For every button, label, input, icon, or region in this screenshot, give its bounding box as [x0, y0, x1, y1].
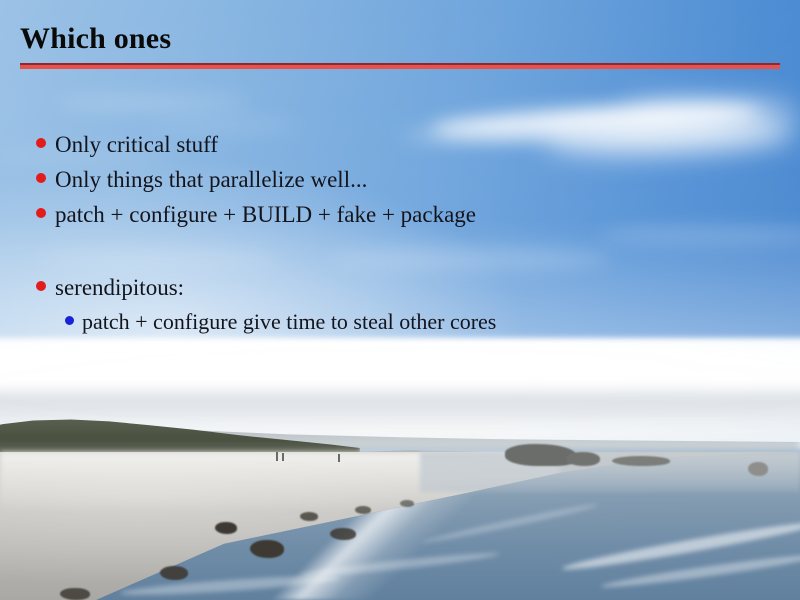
cloud-wisp-icon — [330, 248, 610, 270]
rock — [160, 566, 188, 580]
bullet-dot-icon — [36, 208, 46, 218]
list-item-label: serendipitous: — [55, 276, 184, 299]
background-photo — [0, 0, 800, 600]
rock — [330, 528, 356, 540]
bullet-dot-icon — [36, 173, 46, 183]
cloud-streak-icon — [400, 128, 580, 144]
cloud-streak-icon — [620, 100, 800, 120]
rock — [60, 588, 90, 600]
beach-walker — [338, 454, 340, 462]
bullet-dot-icon — [36, 281, 46, 291]
list-item-label: Only things that parallelize well... — [55, 168, 367, 191]
cloud-wisp-icon — [150, 120, 300, 130]
sub-list-item-label: patch + configure give time to steal oth… — [82, 311, 496, 333]
sub-list-item: patch + configure give time to steal oth… — [65, 311, 496, 333]
rock — [215, 522, 237, 534]
sub-bullet-dot-icon — [65, 316, 74, 325]
page-title: Which ones — [20, 24, 171, 54]
slide: Which ones Only critical stuff Only thin… — [0, 0, 800, 600]
list-item: Only critical stuff — [36, 133, 218, 156]
beach-walker — [276, 452, 278, 461]
rock — [355, 506, 371, 514]
rock — [505, 444, 577, 466]
rock — [400, 500, 414, 507]
list-item-label: Only critical stuff — [55, 133, 218, 156]
list-item: Only things that parallelize well... — [36, 168, 367, 191]
sea-stack — [748, 462, 768, 476]
rock — [612, 456, 670, 466]
list-item: serendipitous: — [36, 276, 184, 299]
bullet-dot-icon — [36, 138, 46, 148]
cloud-wisp-icon — [60, 96, 250, 110]
beach-walker — [282, 453, 284, 461]
list-item: patch + configure + BUILD + fake + packa… — [36, 203, 476, 226]
title-underline-rule — [20, 63, 780, 69]
cloud-wisp-icon — [40, 250, 280, 268]
list-item-label: patch + configure + BUILD + fake + packa… — [55, 203, 476, 226]
rock — [300, 512, 318, 521]
rock — [250, 540, 284, 558]
rock — [566, 452, 600, 466]
